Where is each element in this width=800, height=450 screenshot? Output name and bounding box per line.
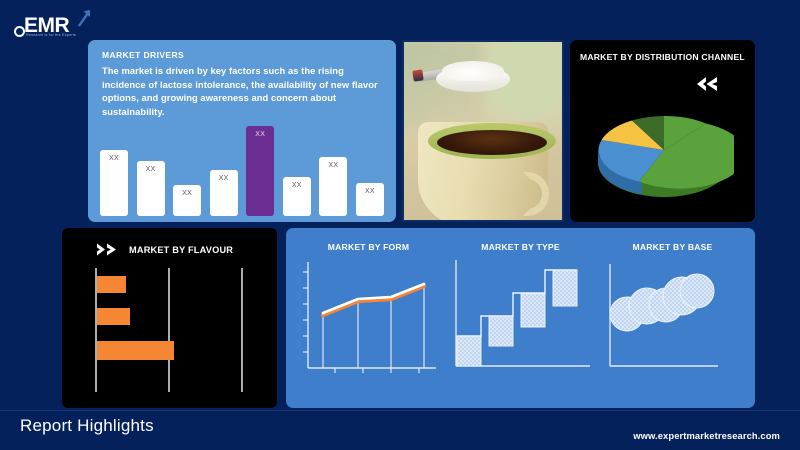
step-1 bbox=[457, 336, 481, 366]
chevron-double-right-icon bbox=[96, 243, 120, 256]
market-by-flavour-title: MARKET BY FLAVOUR bbox=[129, 245, 233, 255]
product-photo bbox=[402, 40, 564, 222]
market-by-base-title: MARKET BY BASE bbox=[600, 242, 745, 252]
distribution-channel-title: MARKET BY DISTRIBUTION CHANNEL bbox=[580, 52, 745, 62]
bar-3: XX bbox=[173, 185, 201, 216]
bar-5-highlighted: XX bbox=[246, 126, 274, 216]
step-3 bbox=[521, 293, 545, 327]
step-4 bbox=[553, 270, 577, 306]
chevron-double-left-icon bbox=[694, 76, 720, 92]
bubble-5 bbox=[680, 274, 714, 308]
bar-2: XX bbox=[137, 161, 165, 216]
bar-8: XX bbox=[356, 183, 384, 216]
coffee-cup bbox=[418, 122, 548, 222]
market-by-form-title: MARKET BY FORM bbox=[296, 242, 441, 252]
step-2 bbox=[489, 316, 513, 346]
bar-3-label: XX bbox=[173, 190, 201, 197]
logo-arrow-icon bbox=[77, 9, 91, 27]
footer-url[interactable]: www.expertmarketresearch.com bbox=[633, 430, 780, 441]
brand-logo: EMR Research is for the Experts bbox=[12, 6, 107, 42]
flavour-bar-1 bbox=[97, 276, 126, 293]
bar-8-label: XX bbox=[356, 188, 384, 195]
flavour-bar-2 bbox=[97, 308, 130, 325]
market-drivers-text: The market is driven by key factors such… bbox=[102, 64, 382, 118]
bar-4-label: XX bbox=[210, 175, 238, 182]
market-by-type-title: MARKET BY TYPE bbox=[448, 242, 593, 252]
bar-6: XX bbox=[283, 177, 311, 216]
bar-1: XX bbox=[100, 150, 128, 216]
bar-5-label: XX bbox=[246, 131, 274, 138]
market-by-flavour-panel: MARKET BY FLAVOUR bbox=[62, 228, 277, 408]
bar-2-label: XX bbox=[137, 166, 165, 173]
spoon-graphic bbox=[420, 60, 516, 94]
flavour-header: MARKET BY FLAVOUR bbox=[96, 243, 233, 256]
segment-charts-panel: MARKET BY FORM bbox=[286, 228, 755, 408]
bar-1-label: XX bbox=[100, 155, 128, 162]
market-by-base-chart: MARKET BY BASE bbox=[600, 242, 745, 392]
flavour-bar-chart bbox=[95, 268, 260, 392]
bar-4: XX bbox=[210, 170, 238, 216]
market-drivers-title: MARKET DRIVERS bbox=[102, 50, 382, 60]
coffee-liquid bbox=[437, 130, 547, 155]
creamer-powder bbox=[442, 61, 504, 81]
logo-tagline: Research is for the Experts bbox=[26, 33, 76, 37]
flavour-bar-3 bbox=[97, 341, 174, 360]
bar-7-label: XX bbox=[319, 162, 347, 169]
market-drivers-card: MARKET DRIVERS The market is driven by k… bbox=[88, 40, 396, 222]
market-drivers-bar-chart: XX XX XX XX XX XX XX XX bbox=[100, 124, 384, 216]
distribution-channel-panel: MARKET BY DISTRIBUTION CHANNEL bbox=[570, 40, 755, 222]
footer-divider bbox=[0, 410, 800, 411]
distribution-pie-chart bbox=[594, 102, 734, 198]
bar-7: XX bbox=[319, 157, 347, 216]
spoon-tip bbox=[412, 69, 423, 81]
bar-6-label: XX bbox=[283, 182, 311, 189]
market-by-form-chart: MARKET BY FORM bbox=[296, 242, 441, 392]
market-by-type-chart: MARKET BY TYPE bbox=[448, 242, 593, 392]
footer-title: Report Highlights bbox=[20, 416, 154, 436]
